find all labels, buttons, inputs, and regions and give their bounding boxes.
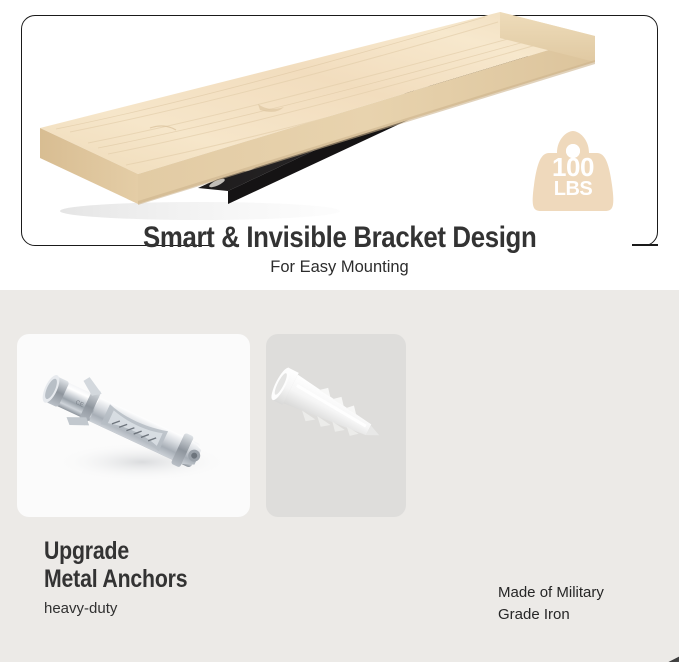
metal-anchor-label-group: Upgrade Metal Anchors heavy-duty: [44, 538, 364, 617]
top-feature-panel: 100 LBS Smart & Invisible Bracket Design…: [0, 0, 679, 290]
headline-row: Smart & Invisible Bracket Design: [0, 222, 679, 254]
metal-anchor-card: CE: [17, 334, 250, 517]
iron-pipe-photo: [390, 635, 679, 662]
plastic-anchor-card: [266, 334, 406, 517]
page-title: Smart & Invisible Bracket Design: [143, 222, 536, 254]
infographic-canvas: 100 LBS Smart & Invisible Bracket Design…: [0, 0, 679, 662]
metal-anchor-title-line-1: Upgrade: [44, 538, 316, 566]
weight-badge-text: 100 LBS: [527, 155, 619, 199]
iron-label-line-2: Grade Iron: [498, 604, 679, 626]
page-subtitle: For Easy Mounting: [0, 258, 679, 277]
metal-anchor-subtitle: heavy-duty: [44, 600, 364, 617]
iron-label-line-1: Made of Military: [498, 582, 679, 604]
metal-anchor-title-line-2: Metal Anchors: [44, 566, 316, 594]
weight-number: 100: [527, 155, 619, 180]
iron-label-group: Made of Military Grade Iron: [498, 582, 679, 626]
weight-capacity-badge: 100 LBS: [527, 129, 619, 215]
weight-unit: LBS: [527, 180, 619, 199]
